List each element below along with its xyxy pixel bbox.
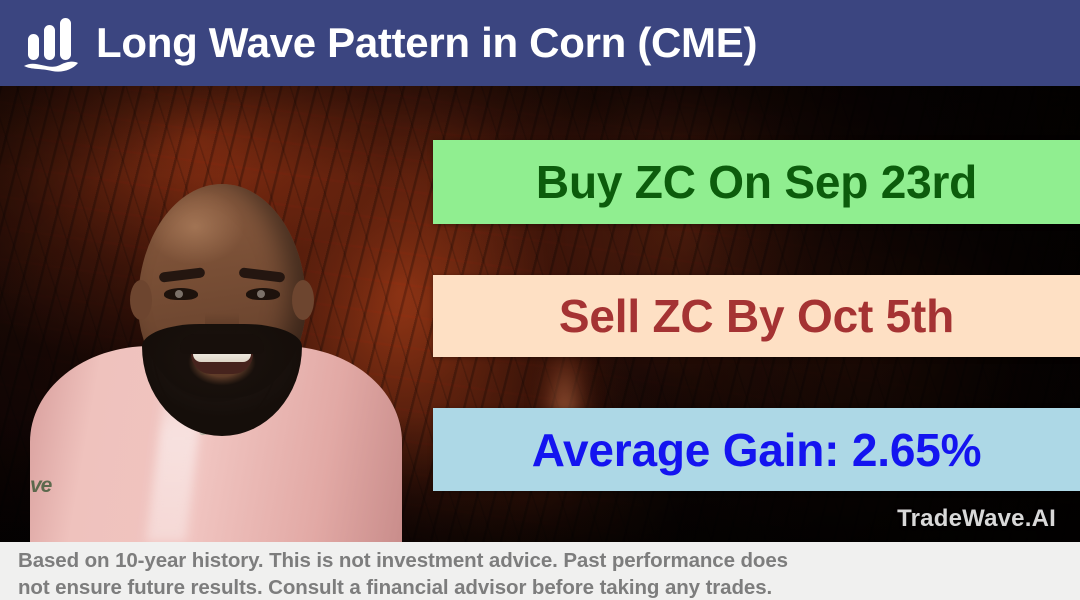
callout-average-gain: Average Gain: 2.65% [433,408,1080,491]
ear-left [130,280,152,320]
brand-watermark: TradeWave.AI [897,505,1056,533]
presenter-head [138,184,306,398]
callout-sell-text: Sell ZC By Oct 5th [559,293,954,339]
eye-left [164,288,198,300]
header-bar: Long Wave Pattern in Corn (CME) [0,0,1080,86]
presenter-photo: ve [22,86,422,542]
callout-buy-signal: Buy ZC On Sep 23rd [433,140,1080,224]
forearm-tattoo: ve [30,474,60,516]
ear-right [292,280,314,320]
disclaimer-line-2: not ensure future results. Consult a fin… [18,574,1066,600]
eye-right [246,288,280,300]
callout-sell-signal: Sell ZC By Oct 5th [433,275,1080,357]
bar-chart-wave-logo-icon [22,16,80,72]
eyebrow-right [239,267,286,283]
disclaimer-line-1: Based on 10-year history. This is not in… [18,547,1066,574]
callout-gain-text: Average Gain: 2.65% [532,427,982,473]
promo-poster: Long Wave Pattern in Corn (CME) ve [0,0,1080,600]
page-title: Long Wave Pattern in Corn (CME) [96,22,757,64]
disclaimer-footer: Based on 10-year history. This is not in… [0,542,1080,600]
eyebrow-left [159,267,206,283]
callout-buy-text: Buy ZC On Sep 23rd [536,159,977,205]
moustache [180,334,264,354]
